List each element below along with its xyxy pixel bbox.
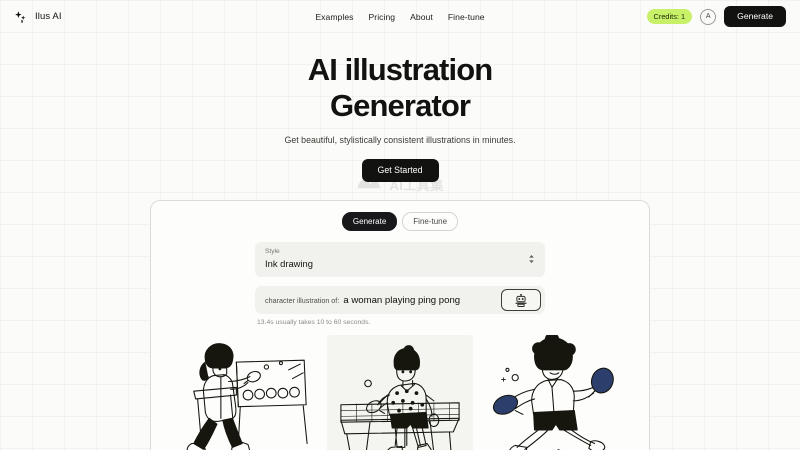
ink-illustration-3 <box>479 335 625 450</box>
style-select-texts: Style Ink drawing <box>265 248 528 270</box>
ink-illustration-2 <box>327 335 473 450</box>
nav-link-fine-tune[interactable]: Fine-tune <box>448 12 485 22</box>
prompt-input[interactable]: a woman playing ping pong <box>343 295 501 306</box>
header-generate-button[interactable]: Generate <box>724 6 786 27</box>
style-select-label: Style <box>265 248 528 257</box>
stepper-chevrons-icon[interactable] <box>528 253 535 265</box>
hero-cta-wrapper: Get Started <box>0 159 800 182</box>
generator-card: Generate Fine-tune Style Ink drawing cha… <box>150 200 650 450</box>
nav-link-about[interactable]: About <box>410 12 433 22</box>
result-image-2[interactable] <box>327 335 473 450</box>
hero-subtitle: Get beautiful, stylistically consistent … <box>0 135 800 145</box>
generation-status: 13.4s usually takes 10 to 60 seconds. <box>255 319 545 326</box>
site-header: Ilus AI Examples Pricing About Fine-tune… <box>0 0 800 33</box>
brand-name: Ilus AI <box>35 11 62 22</box>
nav-link-examples[interactable]: Examples <box>315 12 353 22</box>
prompt-prefix-label: character illustration of: <box>265 296 339 305</box>
get-started-button[interactable]: Get Started <box>362 159 439 182</box>
prompt-input-row[interactable]: character illustration of: a woman playi… <box>255 286 545 314</box>
style-select[interactable]: Style Ink drawing <box>255 242 545 277</box>
main-nav: Examples Pricing About Fine-tune <box>315 12 484 22</box>
avatar[interactable]: A <box>700 9 716 25</box>
result-image-3[interactable] <box>479 335 625 450</box>
page-title: AI illustration Generator <box>0 52 800 123</box>
generator-controls: Style Ink drawing character illustration… <box>255 242 545 326</box>
sparkle-logo-icon <box>14 10 28 24</box>
page-title-line-1: AI illustration <box>308 52 493 87</box>
mode-tabs: Generate Fine-tune <box>151 201 649 231</box>
nav-link-pricing[interactable]: Pricing <box>369 12 396 22</box>
ink-illustration-1 <box>175 335 321 450</box>
results-grid <box>151 326 649 450</box>
robot-icon <box>515 294 527 307</box>
tab-fine-tune[interactable]: Fine-tune <box>402 212 458 231</box>
hero-section: AI illustration Generator Get beautiful,… <box>0 33 800 182</box>
credits-badge[interactable]: Credits: 1 <box>647 9 693 23</box>
brand-logo[interactable]: Ilus AI <box>14 10 62 24</box>
header-actions: Credits: 1 A Generate <box>647 6 786 27</box>
style-select-value: Ink drawing <box>265 258 528 271</box>
result-image-1[interactable] <box>175 335 321 450</box>
tab-generate[interactable]: Generate <box>342 212 397 231</box>
page-title-line-2: Generator <box>330 88 470 123</box>
generate-illustration-button[interactable] <box>501 289 541 311</box>
